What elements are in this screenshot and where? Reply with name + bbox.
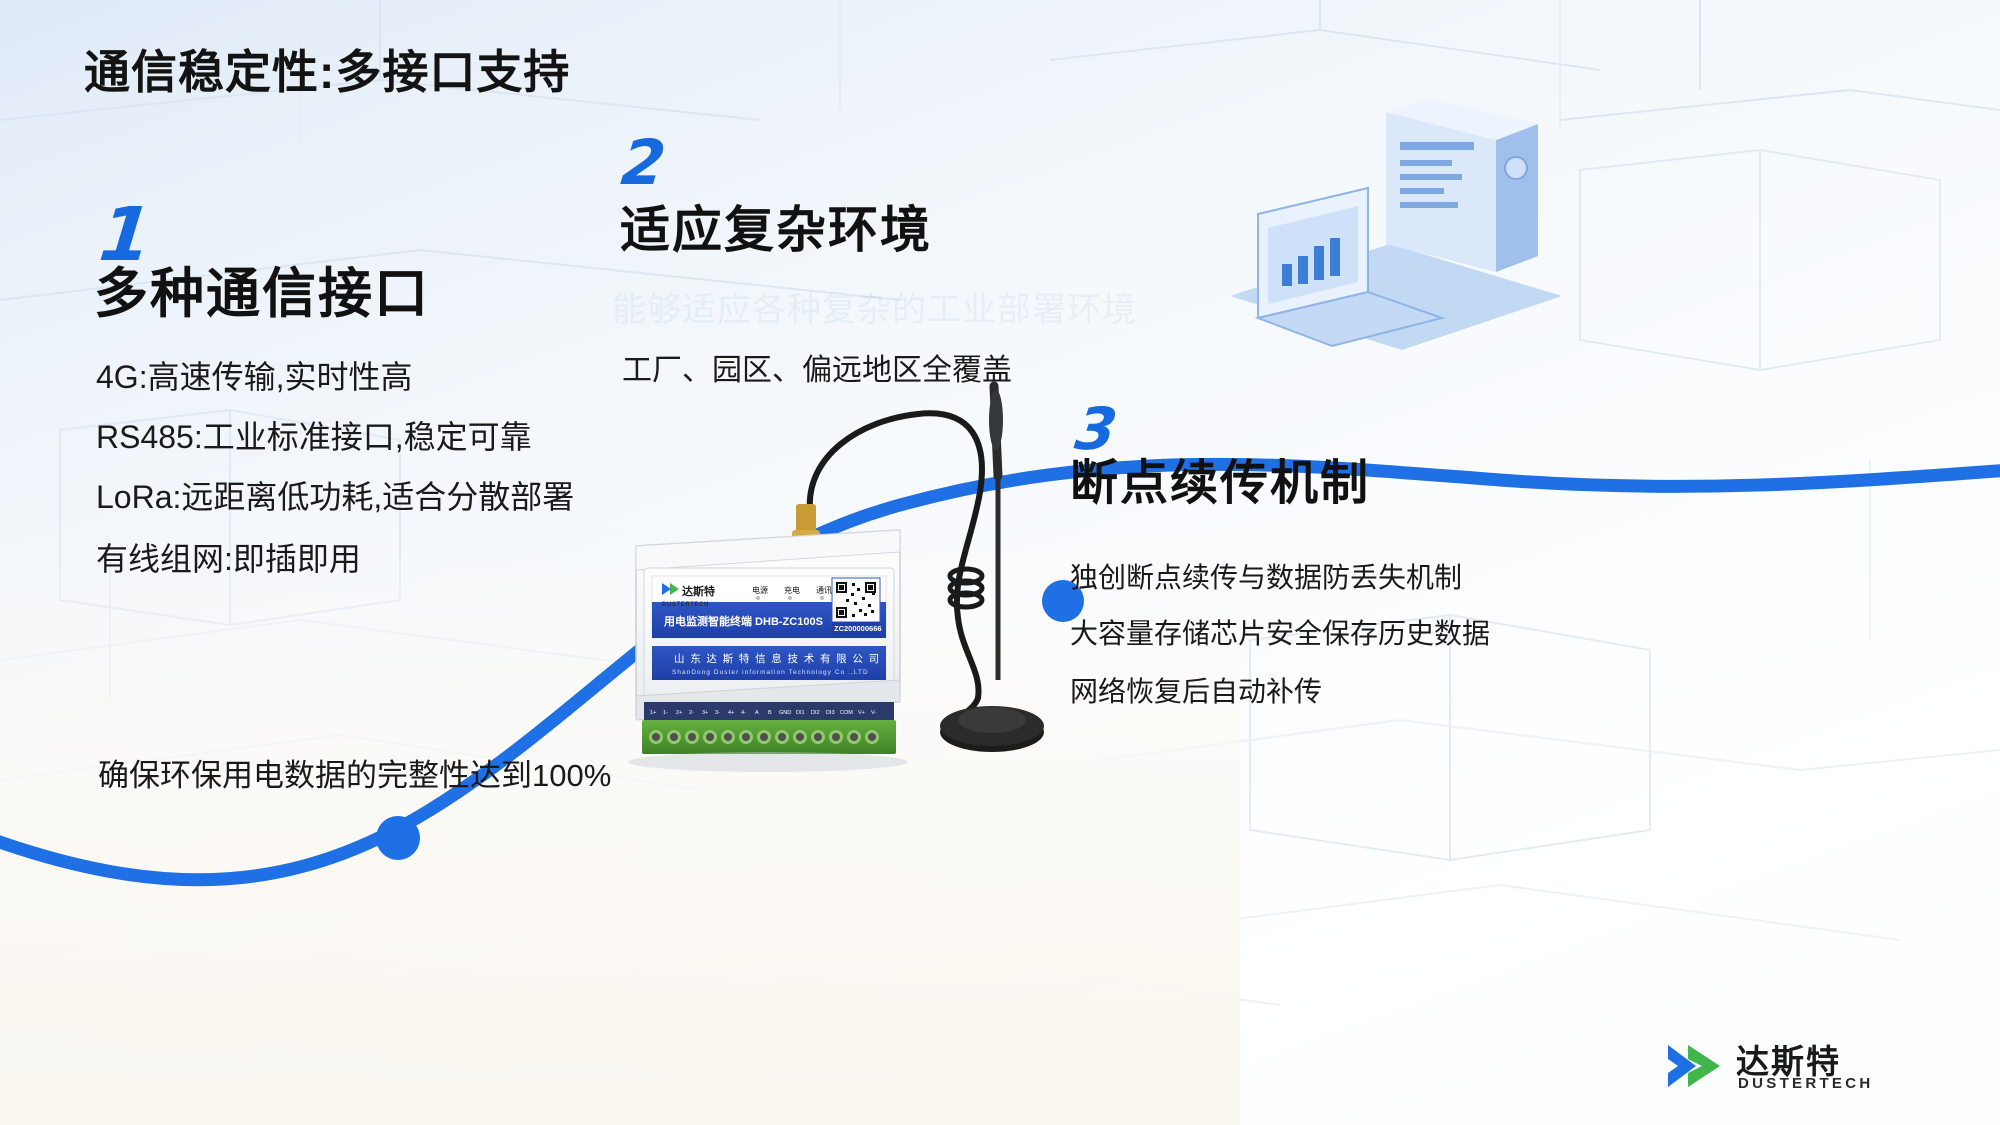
- server-laptop-illustration: [1190, 96, 1580, 356]
- svg-text:GND: GND: [779, 710, 791, 716]
- product-serial: ZC200000666: [834, 624, 882, 633]
- svg-text:通讯: 通讯: [816, 585, 832, 595]
- section-number-1: 1: [96, 198, 155, 272]
- svg-text:3-: 3-: [715, 710, 720, 716]
- product-company-cn: 山 东 达 斯 特 信 息 技 术 有 限 公 司: [674, 652, 881, 665]
- curve-node-1: [376, 816, 420, 860]
- svg-text:4+: 4+: [728, 710, 734, 716]
- section-3-line-3: 网络恢复后自动补传: [1070, 670, 1322, 710]
- section-1-line-1: 4G:高速传输,实时性高: [96, 352, 412, 398]
- svg-text:2+: 2+: [676, 710, 682, 716]
- section-number-2: 2: [619, 132, 669, 194]
- product-model-line: 用电监测智能终端 DHB-ZC100S: [664, 614, 823, 628]
- svg-text:1-: 1-: [663, 710, 668, 716]
- product-brand-en: DUSTERTECH: [662, 602, 709, 608]
- section-1-line-3: LoRa:远距离低功耗,适合分散部署: [96, 472, 574, 518]
- section-1-footnote: 确保环保用电数据的完整性达到100%: [98, 750, 611, 795]
- logo-name-en: DUSTERTECH: [1738, 1075, 1874, 1092]
- page-title: 通信稳定性:多接口支持: [84, 36, 570, 102]
- section-3-line-2: 大容量存储芯片安全保存历史数据: [1070, 612, 1490, 652]
- svg-text:充电: 充电: [784, 585, 800, 595]
- svg-text:3+: 3+: [702, 710, 708, 716]
- svg-text:B: B: [768, 710, 772, 716]
- logo-mark-icon: [1662, 1035, 1728, 1097]
- company-logo: 达斯特 DUSTERTECH: [1662, 1035, 1962, 1099]
- svg-text:电源: 电源: [752, 585, 768, 595]
- svg-text:2-: 2-: [689, 710, 694, 716]
- svg-text:V+: V+: [858, 710, 865, 716]
- svg-text:4-: 4-: [741, 710, 746, 716]
- product-device-photo: 达斯特 DUSTERTECH 电源 充电 通讯 用电监测智能终端 DHB-ZC1…: [600, 380, 1080, 810]
- infographic-canvas: 通信稳定性:多接口支持 1 多种通信接口 4G:高速传输,实时性高 RS485:…: [0, 0, 2000, 1125]
- svg-text:DI1: DI1: [796, 710, 805, 716]
- section-3-line-1: 独创断点续传与数据防丢失机制: [1070, 556, 1462, 596]
- svg-text:V-: V-: [871, 710, 876, 716]
- svg-text:DI3: DI3: [826, 710, 835, 716]
- svg-text:A: A: [755, 710, 759, 716]
- section-1-line-4: 有线组网:即插即用: [96, 534, 361, 580]
- section-heading-2: 适应复杂环境: [620, 205, 932, 255]
- product-company-en: ShanDong Duster information Technology C…: [672, 669, 869, 676]
- product-indicator-labels: 电源 充电 通讯: [752, 585, 832, 595]
- svg-text:1+: 1+: [650, 710, 656, 716]
- product-brand-cn: 达斯特: [682, 584, 715, 598]
- svg-text:COM: COM: [840, 710, 853, 716]
- svg-text:DI2: DI2: [811, 710, 820, 716]
- section-heading-3: 断点续传机制: [1070, 460, 1370, 508]
- section-2-ghost-text: 能够适应各种复杂的工业部署环境: [612, 282, 1137, 331]
- section-1-line-2: RS485:工业标准接口,稳定可靠: [96, 412, 532, 458]
- section-heading-1: 多种通信接口: [94, 267, 430, 321]
